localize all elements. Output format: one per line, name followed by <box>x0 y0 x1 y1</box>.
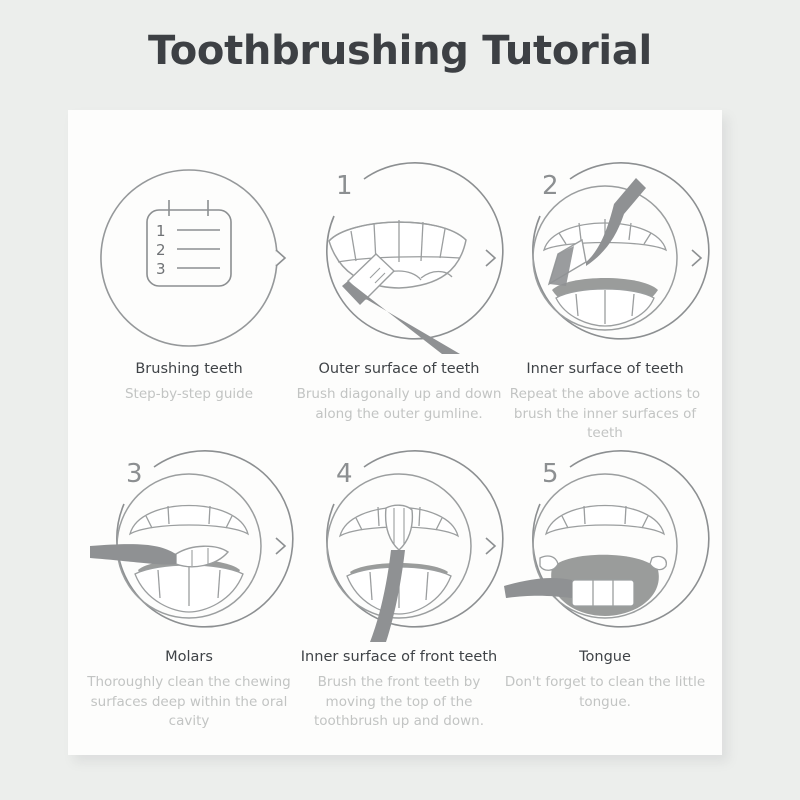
panel-subtitle: Don't forget to clean the little tongue. <box>496 673 714 712</box>
panel-outer-surface: 1 <box>290 158 508 424</box>
step-number: 2 <box>542 171 559 201</box>
inner-surface-brushing-icon: 2 <box>496 158 714 358</box>
panel-title: Inner surface of front teeth <box>290 648 508 666</box>
panel-tongue: 5 <box>496 446 714 712</box>
list-number-2: 2 <box>156 241 166 259</box>
panel-subtitle: Repeat the above actions to brush the in… <box>496 385 714 444</box>
panel-title: Outer surface of teeth <box>290 360 508 378</box>
panel-title: Molars <box>80 648 298 666</box>
panel-brushing-teeth: 1 2 3 Brushing teeth Step-by-step guide <box>80 158 298 405</box>
panel-inner-front-teeth: 4 <box>290 446 508 732</box>
panel-inner-surface: 2 <box>496 158 714 444</box>
panel-subtitle: Step-by-step guide <box>80 385 298 405</box>
step-number: 4 <box>336 459 353 489</box>
tutorial-page: Toothbrushing Tutorial <box>0 0 800 800</box>
page-title: Toothbrushing Tutorial <box>0 28 800 74</box>
panel-grid: 1 2 3 Brushing teeth Step-by-step guide <box>68 110 722 755</box>
outer-surface-brushing-icon: 1 <box>290 158 508 358</box>
step-number: 3 <box>126 459 143 489</box>
list-number-1: 1 <box>156 222 166 240</box>
notepad-checklist-icon: 1 2 3 <box>80 158 298 358</box>
step-number: 1 <box>336 171 353 201</box>
list-number-3: 3 <box>156 260 166 278</box>
panel-title: Brushing teeth <box>80 360 298 378</box>
panel-subtitle: Brush the front teeth by moving the top … <box>290 673 508 732</box>
panel-subtitle: Brush diagonally up and down along the o… <box>290 385 508 424</box>
step-number: 5 <box>542 459 559 489</box>
molars-brushing-icon: 3 <box>80 446 298 646</box>
panel-title: Tongue <box>496 648 714 666</box>
panel-subtitle: Thoroughly clean the chewing surfaces de… <box>80 673 298 732</box>
panel-molars: 3 <box>80 446 298 732</box>
tongue-brushing-icon: 5 <box>496 446 714 646</box>
front-teeth-inner-brushing-icon: 4 <box>290 446 508 646</box>
tutorial-card: 1 2 3 Brushing teeth Step-by-step guide <box>68 110 722 755</box>
panel-title: Inner surface of teeth <box>496 360 714 378</box>
